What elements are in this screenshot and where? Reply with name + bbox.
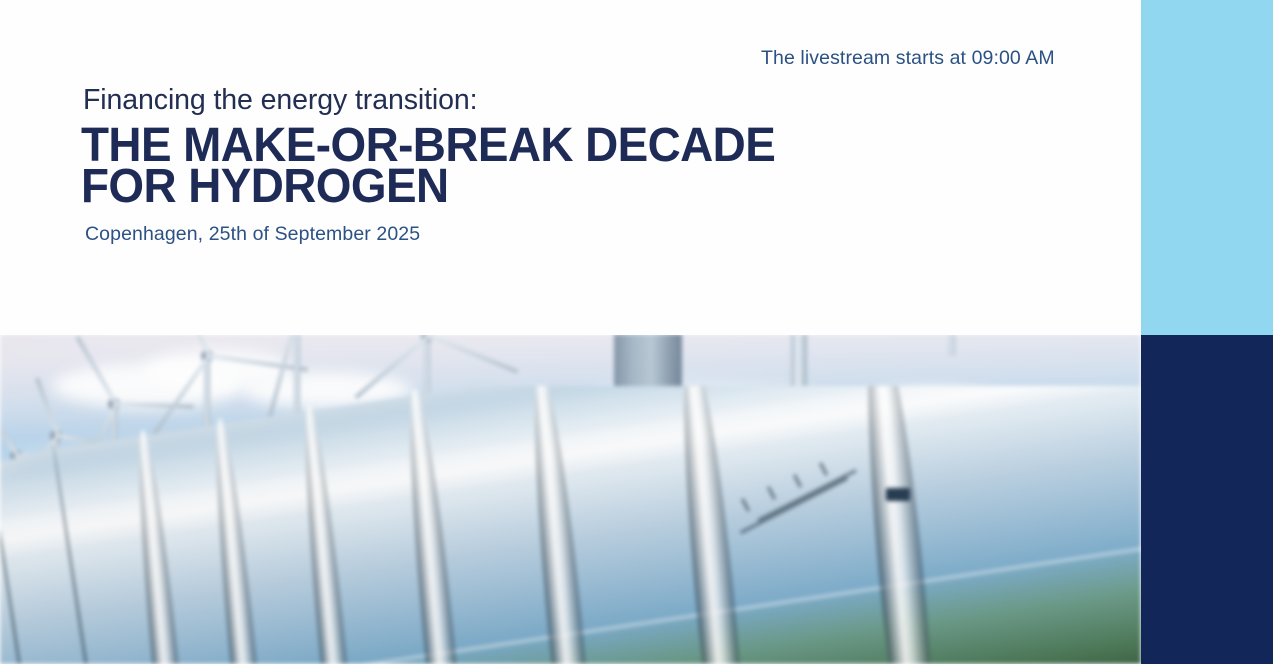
pipeline-ring (207, 416, 281, 664)
event-location-date: Copenhagen, 25th of September 2025 (85, 223, 420, 246)
slide-kicker: Financing the energy transition: (83, 84, 477, 117)
pipeline-ring (130, 428, 204, 664)
side-panel-light-blue (1141, 0, 1273, 335)
brand-side-panel (1141, 0, 1273, 664)
title-area: The livestream starts at 09:00 AM Financ… (0, 0, 1141, 335)
pipeline-ring (855, 386, 947, 664)
presentation-slide: The livestream starts at 09:00 AM Financ… (0, 0, 1273, 664)
turbine-mast (949, 334, 955, 356)
page-title-line-2: FOR HYDROGEN (81, 166, 775, 207)
wind-turbine (947, 334, 957, 356)
pipeline-ring (524, 386, 606, 664)
page-title: THE MAKE-OR-BREAK DECADE FOR HYDROGEN (81, 125, 775, 207)
pipeline-group (0, 386, 1141, 664)
side-panel-dark-navy (1141, 335, 1273, 664)
livestream-start-time: The livestream starts at 09:00 AM (761, 47, 1055, 70)
pipeline-ring (296, 403, 370, 664)
pipeline-ring (400, 387, 478, 664)
pipeline-weld (52, 445, 129, 664)
hero-image (0, 334, 1141, 664)
hydrogen-pipeline (0, 386, 1141, 664)
hero-image-inner (0, 334, 1141, 664)
pipeline-marker-plate (886, 488, 910, 501)
